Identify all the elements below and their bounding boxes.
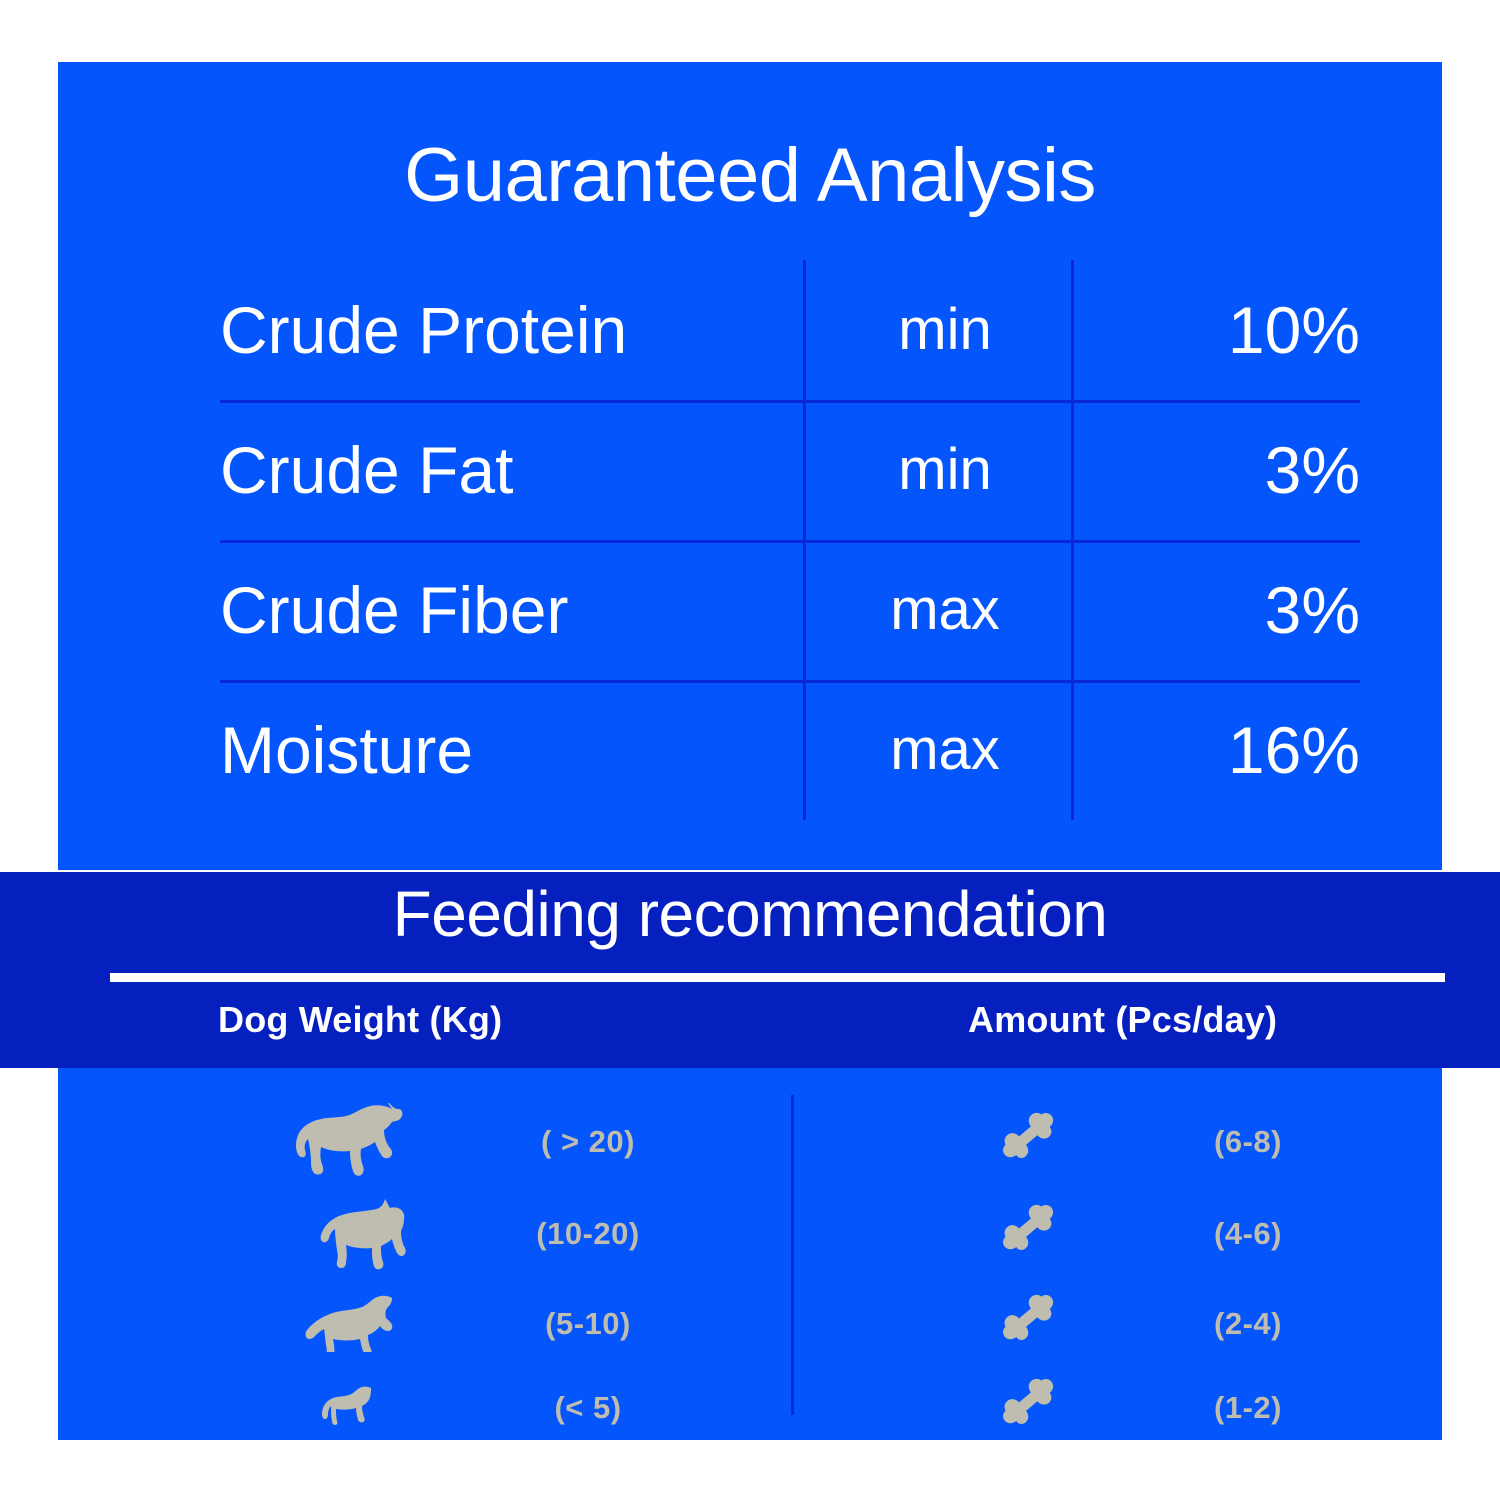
table-row: Crude Fiber max 3%	[220, 540, 1360, 680]
nutrient-name: Crude Protein	[220, 260, 790, 400]
dog-weight-column: ( > 20) (10-20) (5-10)	[238, 1068, 778, 1440]
list-item: (1-2)	[918, 1364, 1348, 1450]
dog-weight-label: (5-10)	[468, 1308, 708, 1339]
nutrient-limit: min	[820, 400, 1070, 540]
banner-divider-rule	[110, 973, 1445, 982]
guaranteed-analysis-table: Crude Protein min 10% Crude Fat min 3% C…	[220, 260, 1360, 820]
list-item: (10-20)	[238, 1190, 778, 1276]
nutrient-value: 3%	[1090, 540, 1360, 680]
table-row: Crude Protein min 10%	[220, 260, 1360, 400]
nutrient-value: 10%	[1090, 260, 1360, 400]
dog-large-icon	[238, 1098, 468, 1184]
nutrient-value: 3%	[1090, 400, 1360, 540]
nutrient-name: Moisture	[220, 680, 790, 820]
dog-weight-label: ( > 20)	[468, 1126, 708, 1157]
table-row: Crude Fat min 3%	[220, 400, 1360, 540]
nutrient-limit: max	[820, 540, 1070, 680]
guaranteed-analysis-panel: Guaranteed Analysis Crude Protein min 10…	[58, 62, 1442, 870]
dog-small-icon	[238, 1280, 468, 1366]
amount-label: (2-4)	[1148, 1308, 1348, 1339]
page-title: Guaranteed Analysis	[58, 138, 1442, 214]
bone-icon	[918, 1280, 1148, 1366]
list-item: ( > 20)	[238, 1098, 778, 1184]
nutrient-limit: max	[820, 680, 1070, 820]
amount-label: (6-8)	[1148, 1126, 1348, 1157]
table-row: Moisture max 16%	[220, 680, 1360, 820]
amount-label: (1-2)	[1148, 1392, 1348, 1423]
bone-icon	[918, 1098, 1148, 1184]
list-item: (< 5)	[238, 1364, 778, 1450]
feeding-column-divider	[791, 1095, 794, 1415]
list-item: (5-10)	[238, 1280, 778, 1366]
amount-column: (6-8) (4-6) (2-4)	[918, 1068, 1348, 1440]
nutrient-name: Crude Fiber	[220, 540, 790, 680]
dog-tiny-icon	[238, 1364, 468, 1450]
bone-icon	[918, 1190, 1148, 1276]
feeding-title: Feeding recommendation	[58, 882, 1442, 946]
nutrient-limit: min	[820, 260, 1070, 400]
dog-medium-icon	[238, 1190, 468, 1276]
list-item: (2-4)	[918, 1280, 1348, 1366]
list-item: (6-8)	[918, 1098, 1348, 1184]
list-item: (4-6)	[918, 1190, 1348, 1276]
feeding-grid-panel: ( > 20) (10-20) (5-10)	[58, 1068, 1442, 1440]
feeding-recommendation-banner: Feeding recommendation Dog Weight (Kg) A…	[0, 872, 1500, 1068]
dog-weight-label: (10-20)	[468, 1218, 708, 1249]
column-header-dog-weight: Dog Weight (Kg)	[218, 1002, 502, 1038]
column-header-amount: Amount (Pcs/day)	[968, 1002, 1277, 1038]
dog-weight-label: (< 5)	[468, 1392, 708, 1423]
nutrient-name: Crude Fat	[220, 400, 790, 540]
amount-label: (4-6)	[1148, 1218, 1348, 1249]
nutrient-value: 16%	[1090, 680, 1360, 820]
bone-icon	[918, 1364, 1148, 1450]
